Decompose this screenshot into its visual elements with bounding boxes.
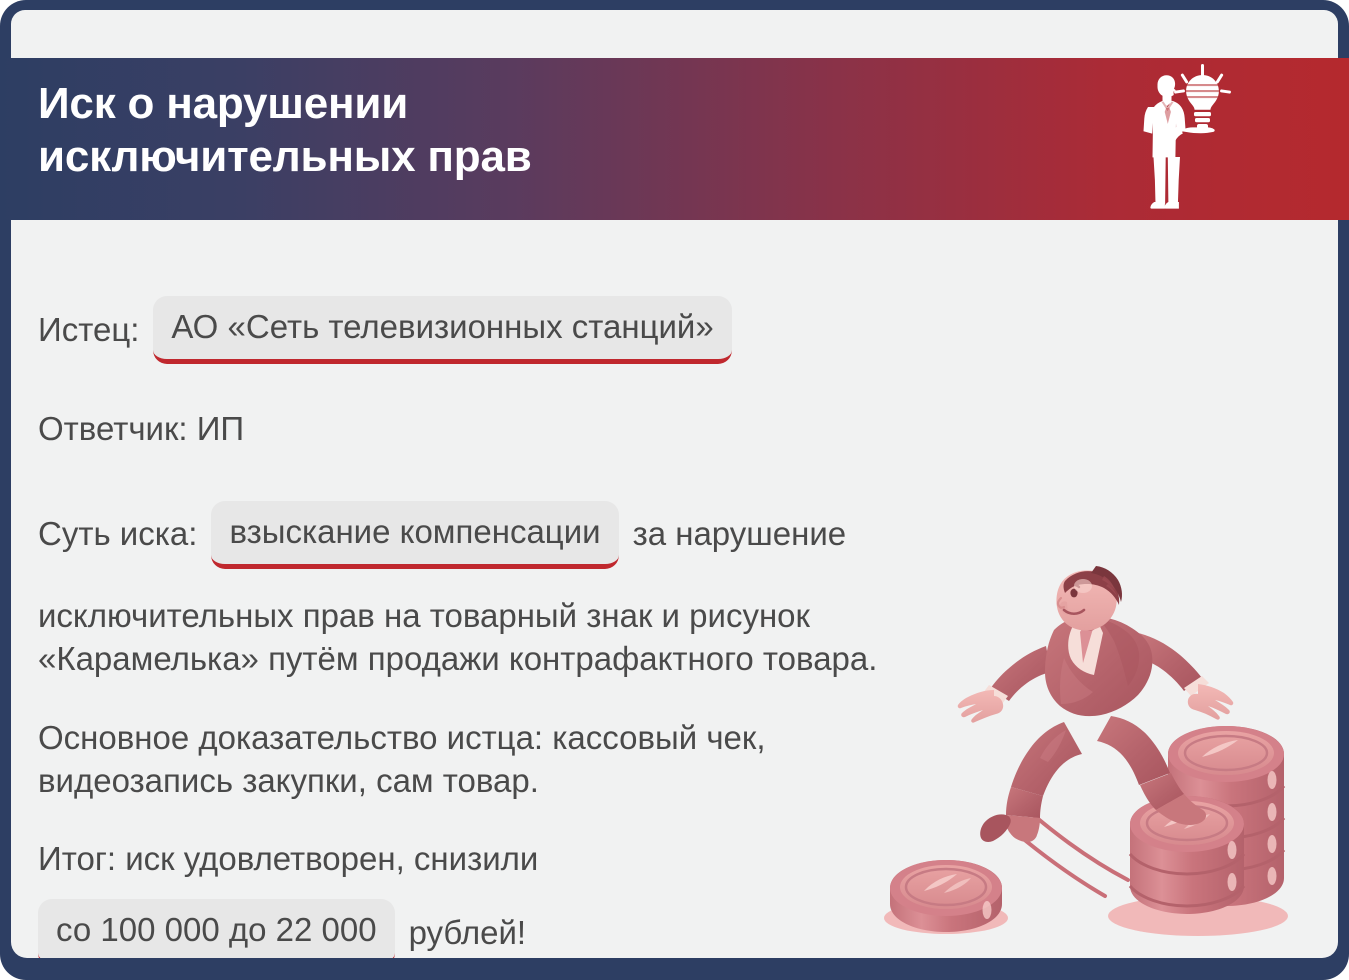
claim-after-chip-text: за нарушение <box>633 513 847 556</box>
claim-continuation-line-2: «Карамелька» путём продажи контрафактног… <box>38 638 1138 681</box>
result-block: Итог: иск удовлетворен, снизили <box>38 802 1138 881</box>
plaintiff-label: Истец: <box>38 309 139 352</box>
claim-continuation: исключительных прав на товарный знак и р… <box>38 569 1138 681</box>
body-content: Истец: АО «Сеть телевизионных станций» О… <box>38 220 1138 958</box>
plaintiff-row: Истец: АО «Сеть телевизионных станций» <box>38 220 1138 364</box>
evidence-line-2: видеозапись закупки, сам товар. <box>38 760 1138 803</box>
businessman-idea-lightbulb-icon <box>1121 62 1241 217</box>
page-title: Иск о нарушении исключительных прав <box>38 78 938 184</box>
evidence-line-1: Основное доказательство истца: кассовый … <box>38 717 1138 760</box>
claim-chip[interactable]: взыскание компенсации <box>211 501 618 569</box>
claim-label: Суть иска: <box>38 513 197 556</box>
card-body: Истец: АО «Сеть телевизионных станций» О… <box>11 220 1338 958</box>
card-top-strip <box>11 10 1338 58</box>
amount-row: со 100 000 до 22 000 рублей! <box>38 881 1138 958</box>
defendant-text: Ответчик: ИП <box>38 408 244 451</box>
card-header: Иск о нарушении исключительных прав <box>0 58 1349 220</box>
infographic-card: Иск о нарушении исключительных прав <box>0 0 1349 980</box>
result-line: Итог: иск удовлетворен, снизили <box>38 838 1138 881</box>
plaintiff-chip[interactable]: АО «Сеть телевизионных станций» <box>153 296 731 364</box>
claim-row: Суть иска: взыскание компенсации за нару… <box>38 451 1138 569</box>
evidence-block: Основное доказательство истца: кассовый … <box>38 681 1138 803</box>
amount-chip[interactable]: со 100 000 до 22 000 <box>38 899 395 958</box>
claim-continuation-line-1: исключительных прав на товарный знак и р… <box>38 595 1138 638</box>
amount-after-chip-text: рублей! <box>409 912 526 955</box>
defendant-row: Ответчик: ИП <box>38 364 1138 451</box>
